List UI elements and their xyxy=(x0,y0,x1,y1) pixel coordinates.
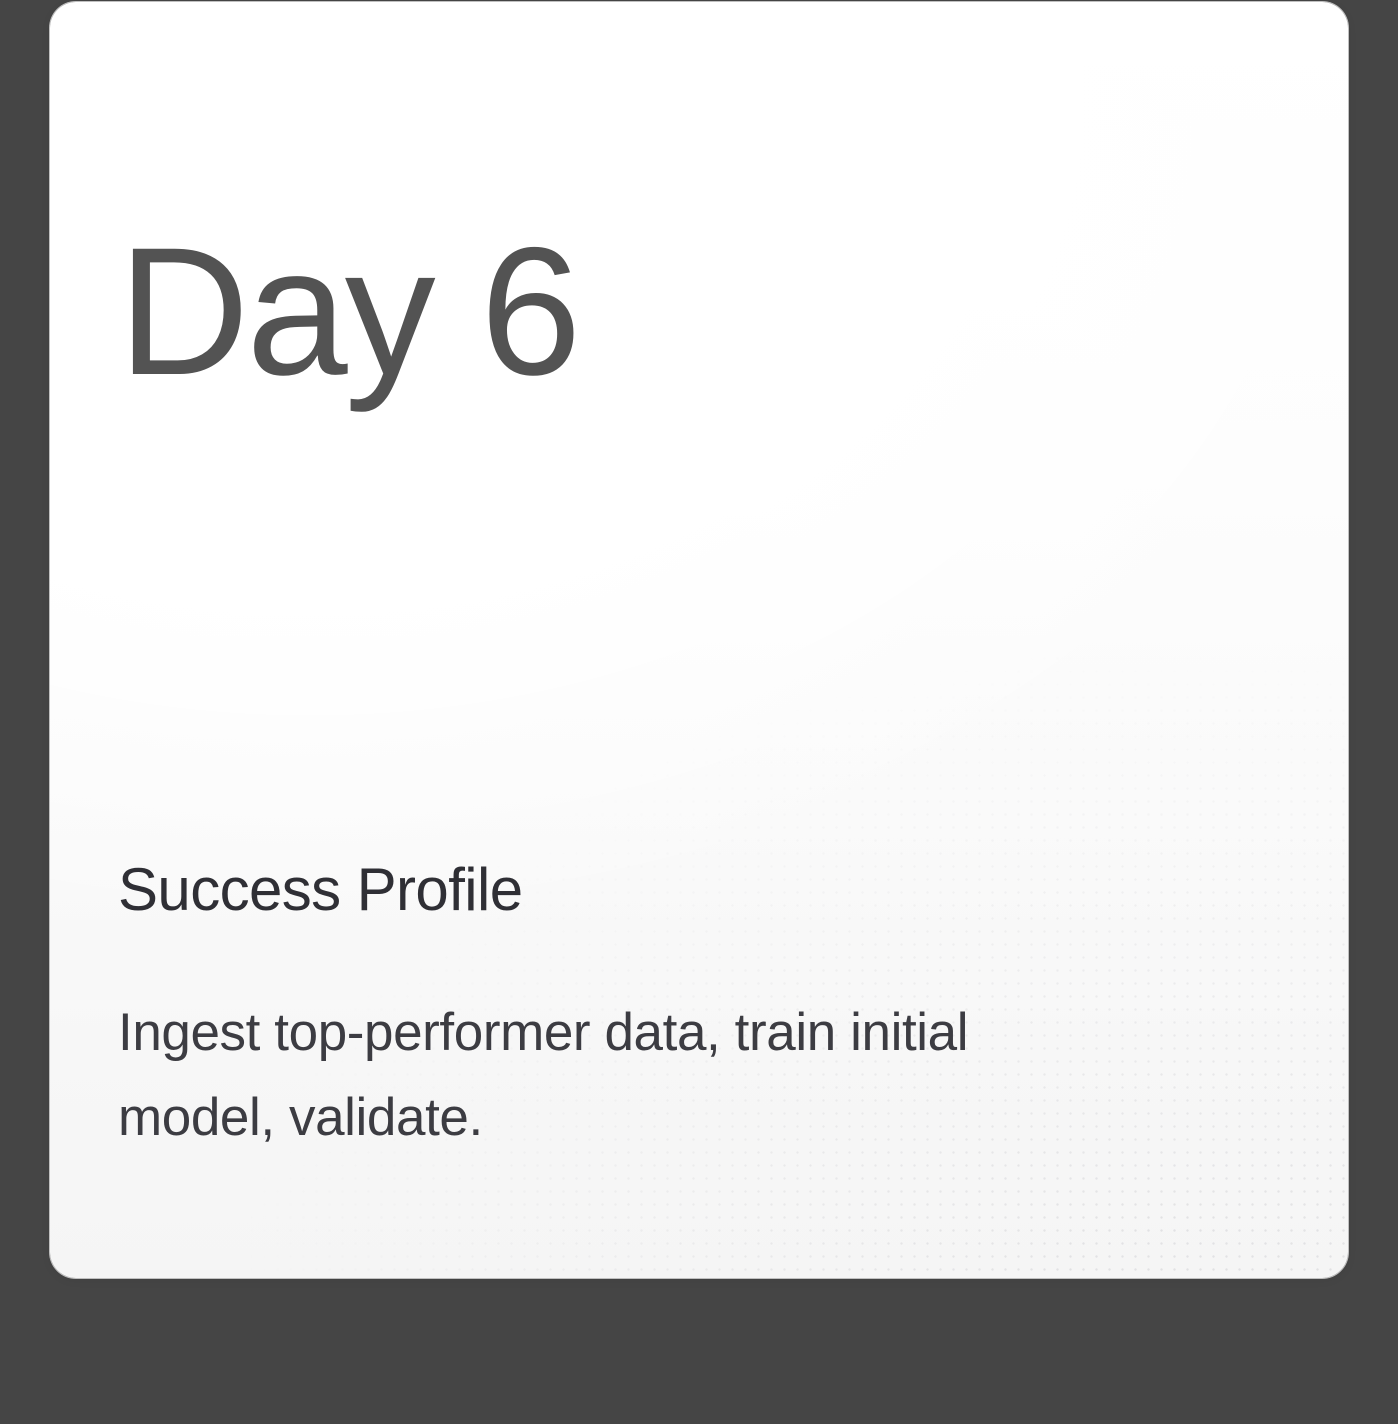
card-section-heading: Success Profile xyxy=(118,860,523,920)
screen-backdrop: Day 6 Success Profile Ingest top-perform… xyxy=(0,0,1398,1424)
card-day-title: Day 6 xyxy=(118,220,578,402)
day-card[interactable]: Day 6 Success Profile Ingest top-perform… xyxy=(50,2,1348,1278)
card-content: Day 6 Success Profile Ingest top-perform… xyxy=(118,2,1288,1278)
card-section-description: Ingest top-performer data, train initial… xyxy=(118,990,1108,1160)
